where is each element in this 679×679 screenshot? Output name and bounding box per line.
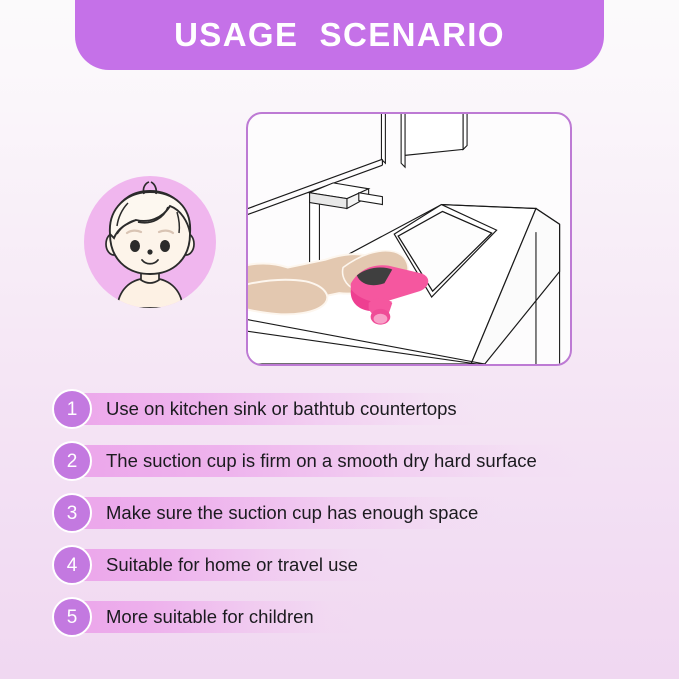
- list-item-number-badge: 4: [52, 545, 92, 585]
- baby-face-icon: [84, 176, 216, 308]
- kitchen-sink-illustration: [248, 114, 570, 364]
- usage-scenario-banner: USAGE SCENARIO: [75, 0, 604, 70]
- list-item-label: Make sure the suction cup has enough spa…: [106, 504, 478, 523]
- list-item-number-badge: 2: [52, 441, 92, 481]
- list-item: 4 Suitable for home or travel use: [52, 546, 652, 584]
- upper-cabinets-group: [381, 114, 467, 167]
- list-item-number-badge: 3: [52, 493, 92, 533]
- list-item: 1 Use on kitchen sink or bathtub counter…: [52, 390, 652, 428]
- list-item: 3 Make sure the suction cup has enough s…: [52, 494, 652, 532]
- illustration-frame: [246, 112, 572, 366]
- list-item-number-badge: 1: [52, 389, 92, 429]
- list-item-label: Use on kitchen sink or bathtub counterto…: [106, 400, 457, 419]
- list-item-label: Suitable for home or travel use: [106, 556, 358, 575]
- page-title: USAGE SCENARIO: [174, 4, 505, 51]
- list-item-label: More suitable for children: [106, 608, 314, 627]
- list-item: 5 More suitable for children: [52, 598, 652, 636]
- usage-instructions-list: 1 Use on kitchen sink or bathtub counter…: [52, 390, 652, 650]
- avatar: [84, 176, 216, 308]
- list-item: 2 The suction cup is firm on a smooth dr…: [52, 442, 652, 480]
- list-item-number-badge: 5: [52, 597, 92, 637]
- list-item-label: The suction cup is firm on a smooth dry …: [106, 452, 537, 471]
